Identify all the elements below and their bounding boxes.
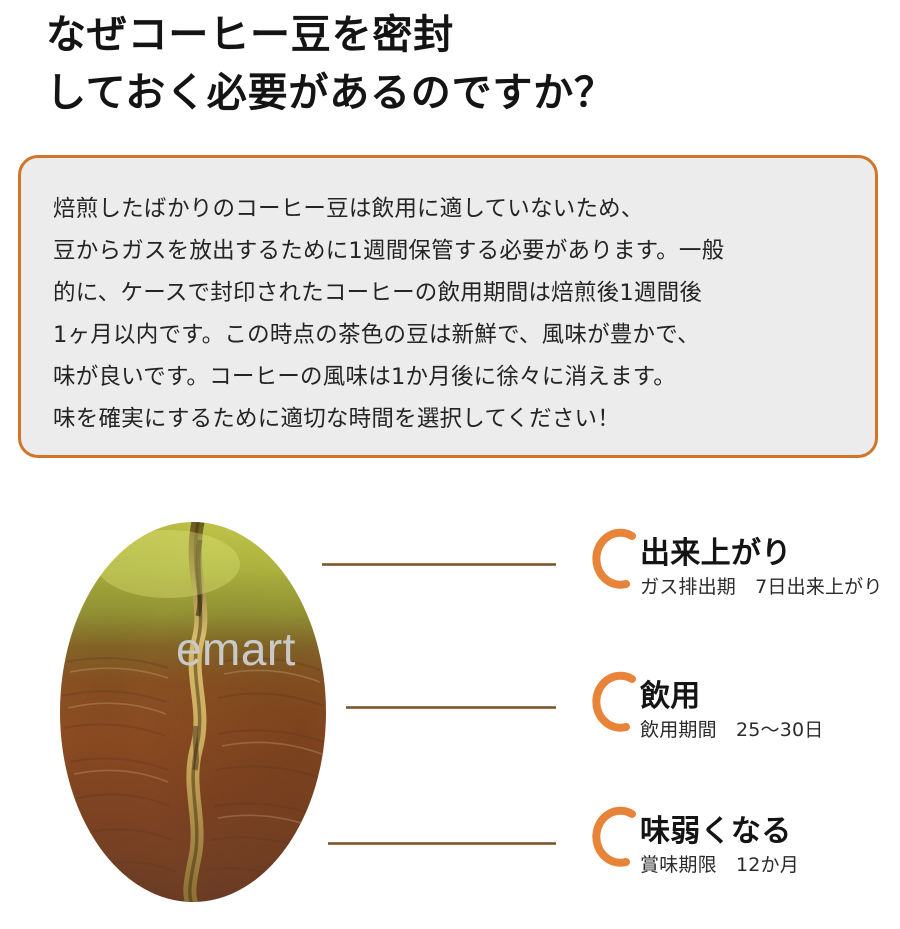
coffee-bean-illustration [48, 512, 338, 912]
info-paragraph-line: 味を確実にするために適切な時間を選択してください！ [53, 398, 845, 440]
page-title-line-1: なぜコーヒー豆を密封 [46, 6, 866, 64]
connector-line-1 [322, 563, 556, 566]
info-paragraph-line: 1ヶ月以内です。この時点の茶色の豆は新鮮で、風味が豊かで、 [53, 314, 845, 356]
page-title-line-2: しておく必要があるのですか？ [46, 64, 866, 122]
info-paragraph-line: 味が良いです。コーヒーの風味は1か月後に徐々に消えます。 [53, 356, 845, 398]
coffee-bean-image [48, 512, 338, 912]
callout-title: 味弱くなる [640, 817, 799, 847]
callout-text-block: 飲用 飲用期間 25〜30日 [640, 668, 823, 740]
arc-c-icon [586, 805, 642, 871]
info-box-content: 焙煎したばかりのコーヒー豆は飲用に適していないため、 豆からガスを放出するために… [21, 158, 875, 440]
arc-c-icon [586, 670, 642, 736]
callout-subtitle: ガス排出期 7日出来上がり [640, 578, 883, 597]
info-paragraph-line: 焙煎したばかりのコーヒー豆は飲用に適していないため、 [53, 188, 845, 230]
info-paragraph-line: 的に、ケースで封印されたコーヒーの飲用期間は焙煎後1週間後 [53, 272, 845, 314]
info-paragraph-line: 豆からガスを放出するために1週間保管する必要があります。一般 [53, 230, 845, 272]
callout-stage-1: 出来上がり ガス排出期 7日出来上がり [586, 525, 883, 597]
info-callout-box: 焙煎したばかりのコーヒー豆は飲用に適していないため、 豆からガスを放出するために… [18, 155, 878, 458]
connector-line-3 [328, 842, 556, 845]
connector-line-2 [346, 706, 556, 709]
callout-text-block: 味弱くなる 賞味期限 12か月 [640, 803, 799, 875]
callout-subtitle: 飲用期間 25〜30日 [640, 721, 823, 740]
callout-stage-3: 味弱くなる 賞味期限 12か月 [586, 803, 799, 875]
callout-subtitle: 賞味期限 12か月 [640, 856, 799, 875]
callout-title: 飲用 [640, 682, 823, 712]
callout-text-block: 出来上がり ガス排出期 7日出来上がり [640, 525, 883, 597]
watermark-text: emart [176, 622, 296, 676]
callout-stage-2: 飲用 飲用期間 25〜30日 [586, 668, 823, 740]
callout-title: 出来上がり [640, 539, 883, 569]
arc-c-icon [586, 527, 642, 593]
page-title: なぜコーヒー豆を密封 しておく必要があるのですか？ [46, 6, 866, 122]
